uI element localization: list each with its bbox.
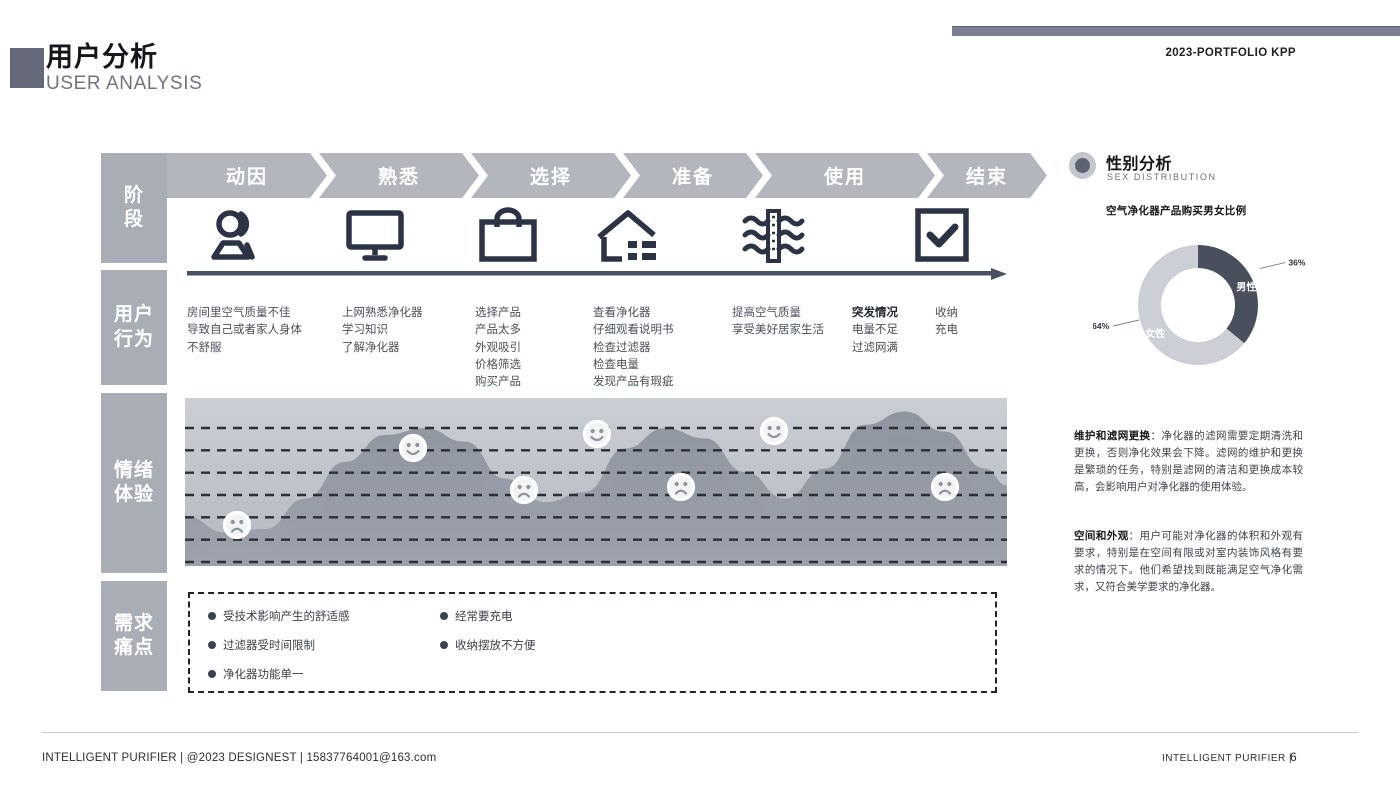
page-title-en: USER ANALYSIS bbox=[46, 73, 202, 95]
behavior-line: 检查过滤器 bbox=[593, 340, 674, 357]
emotion-marker-sad bbox=[225, 513, 250, 538]
behavior-line: 充电 bbox=[935, 322, 958, 339]
bullet-dot-icon bbox=[208, 670, 216, 678]
bullet-dot-icon bbox=[208, 641, 216, 649]
side-note-space: 空间和外观：用户可能对净化器的体积和外观有要求，特别是在空间有限或对室内装饰风格… bbox=[1074, 528, 1303, 596]
header-rule bbox=[952, 26, 1400, 36]
behavior-column-2: 上网熟悉净化器学习知识了解净化器 bbox=[342, 305, 423, 357]
behavior-line: 提高空气质量 bbox=[732, 305, 824, 322]
emotion-marker-happy bbox=[762, 419, 787, 444]
row-label-pain-line1: 需求 bbox=[114, 612, 154, 636]
pain-point-item: 受技术影响产生的舒适感 bbox=[208, 608, 350, 624]
behavior-line: 电量不足 bbox=[852, 322, 898, 339]
behavior-line: 产品太多 bbox=[475, 322, 521, 339]
pain-point-label: 受技术影响产生的舒适感 bbox=[223, 608, 350, 624]
behavior-line: 选择产品 bbox=[475, 305, 521, 322]
sex-analysis-title-en: SEX DISTRIBUTION bbox=[1107, 172, 1217, 182]
sex-analysis-title-cn: 性别分析 bbox=[1106, 150, 1172, 174]
home-settings-icon bbox=[592, 205, 664, 267]
behavior-column-6: 突发情况电量不足过滤网满 bbox=[852, 305, 898, 357]
row-label-behavior: 用户 行为 bbox=[101, 270, 167, 385]
donut-slice-0 bbox=[1198, 245, 1258, 343]
stage-chevron-5[interactable]: 使用 bbox=[755, 153, 935, 198]
behavior-line: 突发情况 bbox=[852, 305, 898, 322]
shopping-bag-icon bbox=[472, 205, 544, 267]
behavior-line: 外观吸引 bbox=[475, 340, 521, 357]
emotion-marker-happy bbox=[401, 436, 426, 461]
behavior-line: 不舒服 bbox=[187, 340, 302, 357]
pain-point-label: 经常要充电 bbox=[455, 608, 513, 624]
footer-credit: INTELLIGENT PURIFIER | @2023 DESIGNEST |… bbox=[42, 752, 436, 764]
behavior-line: 房间里空气质量不佳 bbox=[187, 305, 302, 322]
behavior-column-5: 提高空气质量享受美好居家生活 bbox=[732, 305, 824, 340]
behavior-line: 过滤网满 bbox=[852, 340, 898, 357]
footer-divider bbox=[42, 732, 1358, 733]
bullet-dot-icon bbox=[440, 612, 448, 620]
stage-chevron-label: 熟悉 bbox=[378, 162, 420, 189]
emotion-marker-sad bbox=[933, 475, 958, 500]
gender-donut-chart: 36%男性64%女性 bbox=[1093, 228, 1323, 383]
stage-chevron-label: 使用 bbox=[824, 162, 866, 189]
emotion-experience-chart bbox=[185, 398, 1007, 566]
stage-chevron-label: 结束 bbox=[966, 162, 1008, 189]
pain-point-item: 净化器功能单一 bbox=[208, 666, 304, 682]
behavior-line: 价格筛选 bbox=[475, 357, 521, 374]
footer-page-number: 6 bbox=[1290, 750, 1297, 764]
behavior-line: 导致自己或者家人身体 bbox=[187, 322, 302, 339]
checkbox-done-icon bbox=[907, 205, 979, 267]
side-note-maintenance-heading: 维护和滤网更换 bbox=[1074, 430, 1150, 442]
row-label-emotion-line2: 体验 bbox=[114, 483, 154, 507]
side-note-space-heading: 空间和外观 bbox=[1074, 530, 1129, 542]
row-label-emotion-line1: 情绪 bbox=[114, 459, 154, 483]
behavior-column-7: 收纳充电 bbox=[935, 305, 958, 340]
behavior-column-3: 选择产品产品太多外观吸引价格筛选购买产品 bbox=[475, 305, 521, 391]
stage-chevron-2[interactable]: 熟悉 bbox=[319, 153, 479, 198]
behavior-line: 购买产品 bbox=[475, 374, 521, 391]
donut-label-female: 女性 bbox=[1145, 327, 1165, 340]
behavior-column-1: 房间里空气质量不佳导致自己或者家人身体不舒服 bbox=[187, 305, 302, 357]
user-profile-icon bbox=[201, 205, 273, 267]
row-label-stage-line1: 阶 bbox=[124, 184, 144, 208]
stage-chevron-4[interactable]: 准备 bbox=[623, 153, 763, 198]
behavior-line: 上网熟悉净化器 bbox=[342, 305, 423, 322]
header-portfolio-code: 2023-PORTFOLIO KPP bbox=[1165, 47, 1296, 59]
behavior-line: 检查电量 bbox=[593, 357, 674, 374]
donut-label-male-pct: 36% bbox=[1288, 258, 1305, 268]
behavior-line: 查看净化器 bbox=[593, 305, 674, 322]
sex-analysis-subtitle: 空气净化器产品购买男女比例 bbox=[1106, 203, 1246, 218]
behavior-line: 学习知识 bbox=[342, 322, 423, 339]
emotion-marker-sad bbox=[669, 475, 694, 500]
behavior-column-4: 查看净化器仔细观看说明书检查过滤器检查电量发现产品有瑕疵 bbox=[593, 305, 674, 391]
row-label-stage: 阶 段 bbox=[101, 153, 167, 263]
row-label-behavior-line1: 用户 bbox=[114, 303, 154, 327]
stage-chevron-1[interactable]: 动因 bbox=[167, 153, 327, 198]
behavior-line: 了解净化器 bbox=[342, 340, 423, 357]
behavior-line: 仔细观看说明书 bbox=[593, 322, 674, 339]
behavior-line: 发现产品有瑕疵 bbox=[593, 374, 674, 391]
sex-analysis-bullet-icon bbox=[1069, 152, 1096, 179]
stage-chevron-3[interactable]: 选择 bbox=[471, 153, 631, 198]
monitor-icon bbox=[339, 205, 411, 267]
pain-point-label: 收纳摆放不方便 bbox=[455, 637, 536, 653]
stage-chevron-6[interactable]: 结束 bbox=[927, 153, 1047, 198]
behavior-line: 收纳 bbox=[935, 305, 958, 322]
pain-point-label: 净化器功能单一 bbox=[223, 666, 304, 682]
stage-chevron-label: 准备 bbox=[672, 162, 714, 189]
row-label-stage-line2: 段 bbox=[124, 208, 144, 232]
side-note-maintenance: 维护和滤网更换：净化器的滤网需要定期清洗和更换，否则净化效果会下降。滤网的维护和… bbox=[1074, 428, 1303, 496]
row-label-emotion: 情绪 体验 bbox=[101, 393, 167, 573]
footer-brand: INTELLIGENT PURIFIER | bbox=[1162, 753, 1292, 764]
page-title-cn: 用户分析 bbox=[46, 43, 202, 71]
journey-timeline-arrow bbox=[187, 268, 1007, 280]
pain-point-item: 经常要充电 bbox=[440, 608, 513, 624]
emotion-marker-sad bbox=[512, 478, 537, 503]
air-filter-icon bbox=[737, 205, 809, 267]
bullet-dot-icon bbox=[440, 641, 448, 649]
pain-point-label: 过滤器受时间限制 bbox=[223, 637, 315, 653]
row-label-behavior-line2: 行为 bbox=[114, 328, 154, 352]
donut-label-male: 男性 bbox=[1236, 281, 1256, 294]
pain-point-item: 过滤器受时间限制 bbox=[208, 637, 315, 653]
row-label-pain-line2: 痛点 bbox=[114, 636, 154, 660]
journey-icon-row bbox=[167, 200, 1012, 275]
title-accent-swatch bbox=[10, 48, 44, 88]
pain-points-box: 受技术影响产生的舒适感过滤器受时间限制净化器功能单一经常要充电收纳摆放不方便 bbox=[188, 592, 997, 693]
bullet-dot-icon bbox=[208, 612, 216, 620]
stage-chevron-label: 选择 bbox=[530, 162, 572, 189]
stage-chevron-label: 动因 bbox=[226, 162, 268, 189]
row-label-pain: 需求 痛点 bbox=[101, 581, 167, 691]
donut-label-female-pct: 64% bbox=[1093, 321, 1110, 331]
emotion-marker-happy bbox=[585, 422, 610, 447]
pain-point-item: 收纳摆放不方便 bbox=[440, 637, 536, 653]
behavior-line: 享受美好居家生活 bbox=[732, 322, 824, 339]
journey-stage-strip: 动因熟悉选择准备使用结束 bbox=[167, 153, 1012, 198]
page-title: 用户分析 USER ANALYSIS bbox=[46, 43, 202, 95]
